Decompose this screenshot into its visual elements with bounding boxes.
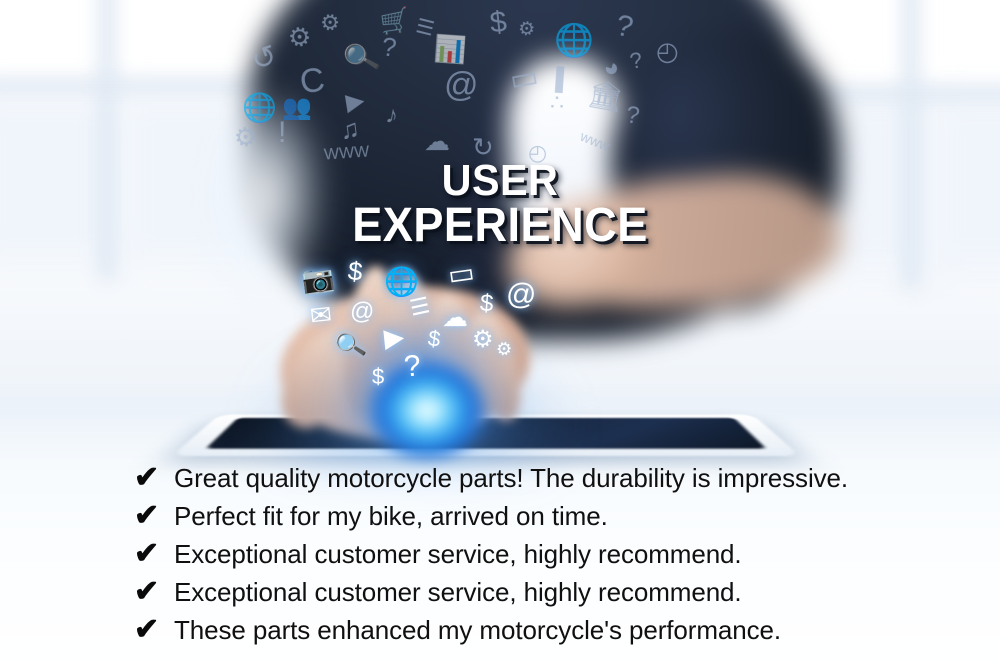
magnifier-icon: 🔍 xyxy=(334,331,368,361)
title-line-experience: EXPERIENCE xyxy=(30,203,970,248)
icon-cloud-upper: ⚙⚙🛒☰$⚙🌐?↺🔍?📊◴?C@◕▭🌐👥▶▐🏛∴⚙!♫♪☁WWWwww↻◴? xyxy=(228,6,648,186)
review-item: ✔These parts enhanced my motorcycle's pe… xyxy=(134,614,964,648)
checkmark-icon: ✔ xyxy=(134,576,174,608)
gear-icon: ⚙ xyxy=(517,19,537,40)
globe-icon: 🌐 xyxy=(554,24,594,56)
checkmark-icon: ✔ xyxy=(134,614,174,646)
at-sign-icon: @ xyxy=(506,280,536,310)
music-note-icon: ♪ xyxy=(384,103,400,129)
dollar-icon: $ xyxy=(479,292,494,317)
document-icon: ☰ xyxy=(414,16,436,40)
credit-card-icon: ▭ xyxy=(446,258,476,289)
checkmark-icon: ✔ xyxy=(134,538,174,570)
question-mark-icon: ? xyxy=(403,351,422,382)
bank-icon: 🏛 xyxy=(586,79,626,113)
gear-icon: ⚙ xyxy=(317,9,343,36)
bar-chart-icon: 📊 xyxy=(433,35,467,63)
people-group-icon: 👥 xyxy=(282,96,312,120)
page-title: USER EXPERIENCE xyxy=(0,160,1000,248)
review-item: ✔Exceptional customer service, highly re… xyxy=(134,576,964,610)
cloud-icon: ☁ xyxy=(442,304,468,330)
review-list: ✔Great quality motorcycle parts! The dur… xyxy=(134,462,964,652)
question-mark-icon: ? xyxy=(628,49,644,73)
question-mark-icon: ? xyxy=(613,11,636,44)
dollar-icon: $ xyxy=(427,327,442,350)
title-line-user: USER xyxy=(30,160,970,201)
envelope-icon: ✉ xyxy=(309,301,333,329)
review-item: ✔Exceptional customer service, highly re… xyxy=(134,538,964,572)
review-text: Perfect fit for my bike, arrived on time… xyxy=(174,500,608,533)
battery-icon: ▐ xyxy=(547,67,564,90)
gear-icon: ⚙ xyxy=(286,22,314,52)
review-text: These parts enhanced my motorcycle's per… xyxy=(174,614,781,647)
review-text: Great quality motorcycle parts! The dura… xyxy=(174,462,848,495)
checkmark-icon: ✔ xyxy=(134,462,174,494)
gear-icon: ⚙ xyxy=(494,338,514,359)
credit-card-icon: ▭ xyxy=(508,62,541,96)
www-text-icon: www xyxy=(578,129,611,153)
pie-chart-icon: ◕ xyxy=(601,52,623,81)
globe-icon: 🌐 xyxy=(384,268,419,296)
magnifier-icon: 🔍 xyxy=(341,40,382,76)
question-mark-icon: ? xyxy=(624,103,641,129)
review-text: Exceptional customer service, highly rec… xyxy=(174,538,742,571)
play-button-icon: ▶ xyxy=(383,323,406,351)
globe-icon: 🌐 xyxy=(242,94,277,122)
question-mark-icon: ? xyxy=(381,33,398,60)
refresh-arrow-icon: ↺ xyxy=(248,41,282,78)
dollar-icon: $ xyxy=(372,366,384,388)
icon-burst-lower: 📷$🌐▭✉@☰☁$@▶🔍$⚙⚙?$ xyxy=(300,250,530,390)
review-item: ✔Great quality motorcycle parts! The dur… xyxy=(134,462,964,496)
screenshot-canvas: ⚙⚙🛒☰$⚙🌐?↺🔍?📊◴?C@◕▭🌐👥▶▐🏛∴⚙!♫♪☁WWWwww↻◴? 📷… xyxy=(0,0,1000,667)
gear-icon: ⚙ xyxy=(472,328,494,352)
clock-icon: ◴ xyxy=(656,38,679,64)
at-sign-icon: @ xyxy=(350,300,374,324)
camera-icon: 📷 xyxy=(300,264,336,294)
document-icon: ☰ xyxy=(408,294,432,320)
network-icon: ∴ xyxy=(550,92,564,114)
dollar-icon: $ xyxy=(347,257,364,284)
cloud-icon: ☁ xyxy=(424,128,450,154)
window-pane xyxy=(930,0,1000,90)
review-item: ✔Perfect fit for my bike, arrived on tim… xyxy=(134,500,964,534)
dollar-icon: $ xyxy=(488,7,508,39)
exclamation-icon: ! xyxy=(278,118,286,148)
at-sign-icon: @ xyxy=(444,68,479,102)
music-note-icon: ♫ xyxy=(338,115,361,143)
review-text: Exceptional customer service, highly rec… xyxy=(174,576,742,609)
gear-icon: ⚙ xyxy=(233,123,259,151)
play-button-icon: ▶ xyxy=(344,89,366,116)
checkmark-icon: ✔ xyxy=(134,500,174,532)
